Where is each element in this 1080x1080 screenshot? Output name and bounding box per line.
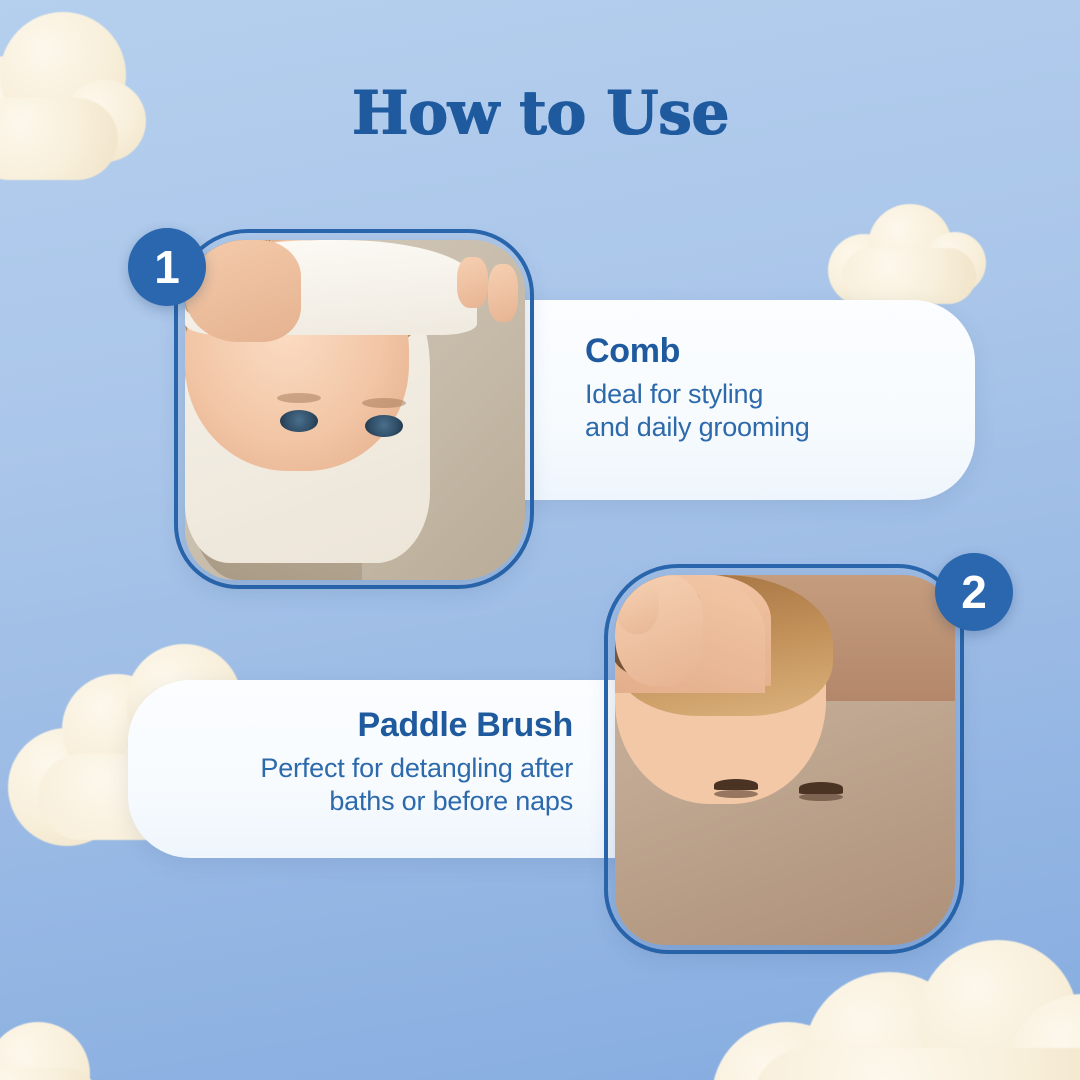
cloud-bottom-left xyxy=(0,1012,120,1080)
step-2-photo-frame xyxy=(615,575,955,945)
cloud-bottom-right xyxy=(712,938,1080,1080)
step-1-number-badge: 1 xyxy=(128,228,206,306)
how-to-use-infographic: How to Use Comb Ideal for styling and da… xyxy=(0,0,1080,1080)
step-2-number: 2 xyxy=(961,569,987,615)
step-2-description: Perfect for detangling after baths or be… xyxy=(153,752,573,818)
cloud-top-right xyxy=(828,200,993,305)
step-1-description: Ideal for styling and daily grooming xyxy=(585,378,955,444)
step-2-photo xyxy=(615,575,955,945)
step-2-number-badge: 2 xyxy=(935,553,1013,631)
page-title: How to Use xyxy=(0,78,1080,148)
step-2-title: Paddle Brush xyxy=(153,708,573,744)
step-2-text-panel: Paddle Brush Perfect for detangling afte… xyxy=(128,680,633,858)
step-1-photo xyxy=(185,240,525,580)
step-1-title: Comb xyxy=(585,334,955,370)
step-1-text-panel: Comb Ideal for styling and daily groomin… xyxy=(470,300,975,500)
step-1-number: 1 xyxy=(154,244,180,290)
step-1-photo-frame xyxy=(185,240,525,580)
